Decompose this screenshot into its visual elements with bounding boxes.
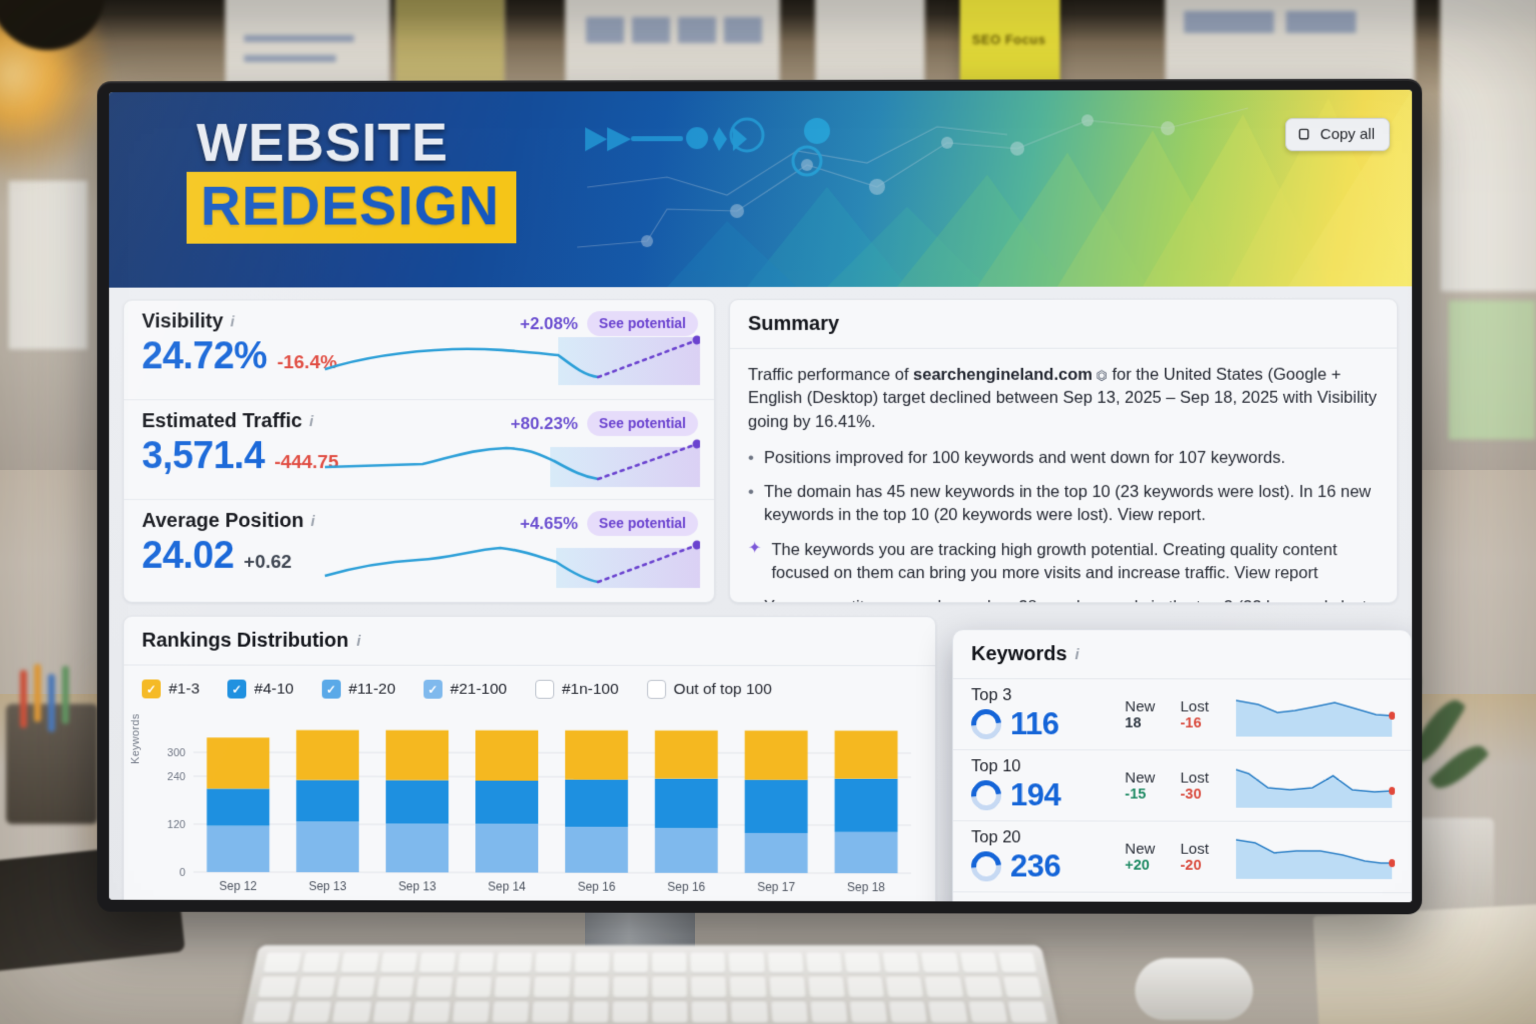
keyboard (241, 945, 1060, 1024)
legend-label: #21-100 (450, 680, 507, 698)
keyword-label: Top 20 (971, 828, 1111, 847)
keyword-row-top-10: Top 10 194 New -15 Lost -30 (953, 750, 1411, 822)
info-icon[interactable]: i (357, 634, 372, 649)
bar-segment (835, 779, 898, 832)
legend-label: Out of top 100 (674, 680, 772, 698)
svg-text:Sep 13: Sep 13 (309, 879, 347, 893)
hero-title-line-2: REDESIGN (187, 171, 516, 243)
keyboard-keys (252, 952, 1047, 1022)
bar-segment (655, 778, 718, 828)
checkbox-checked[interactable]: ✓ (227, 680, 246, 699)
metrics-card: Visibility i 24.72% -16.4% +2.08% See po… (123, 299, 715, 603)
wall-paper-6 (1440, 0, 1536, 292)
pencil-cup (6, 704, 98, 824)
summary-bullet: • The domain has 45 new keywords in the … (748, 481, 1379, 527)
bar-segment (296, 780, 359, 822)
bar-segment (475, 781, 538, 824)
keyword-lost-value: -16 (1180, 715, 1221, 731)
keyword-new: New -15 (1125, 769, 1166, 802)
copy-all-button[interactable]: Copy all (1285, 118, 1390, 151)
legend-item-1-3[interactable]: ✓ #1-3 (142, 679, 200, 698)
svg-text:Sep 17: Sep 17 (757, 880, 795, 894)
bar-segment (207, 738, 270, 789)
wall-paper-7 (8, 180, 88, 350)
legend-label: #4-10 (254, 680, 293, 698)
legend-item-21-100[interactable]: ✓ #21-100 (423, 680, 507, 699)
keyword-lost-label: Lost (1180, 840, 1221, 857)
bar-segment (386, 780, 449, 824)
summary-domain[interactable]: searchengineland.com (913, 366, 1092, 384)
svg-text:120: 120 (167, 819, 185, 831)
keyword-row-top-20: Top 20 236 New +20 Lost -20 (953, 821, 1411, 893)
summary-bullets: • Positions improved for 100 keywords an… (748, 447, 1379, 603)
keyword-value-line: 116 (971, 706, 1111, 742)
monitor: WEBSITE REDESIGN Copy all Visibility i (97, 79, 1422, 915)
donut-icon (965, 774, 1007, 816)
summary-bullet-text: The keywords you are tracking high growt… (771, 539, 1378, 585)
metric-delta: +0.62 (244, 552, 292, 574)
keyword-value-line: 194 (971, 777, 1111, 813)
bar-segment (565, 730, 628, 779)
bar-segment (745, 780, 808, 833)
keyword-value-line: 236 (971, 848, 1111, 884)
summary-intro-a: Traffic performance of (748, 366, 913, 384)
keyword-lost: Lost -16 (1180, 698, 1221, 731)
sparkle-icon: ✦ (748, 539, 761, 585)
improved-declined-title: Improved vs. declined (971, 901, 1393, 902)
summary-intro: Traffic performance of searchengineland.… (748, 364, 1379, 435)
svg-text:Sep 13: Sep 13 (398, 879, 436, 893)
metric-average-position: Average Position i 24.02 +0.62 +4.65% Se… (124, 500, 714, 600)
bar-segment (207, 826, 270, 872)
keyword-value: 236 (1010, 848, 1060, 884)
svg-text:Sep 16: Sep 16 (578, 880, 616, 894)
metric-value: 24.02 (142, 535, 234, 578)
hero-title-line-1: WEBSITE (197, 112, 449, 174)
stacked-bar-chart: 0120300240Sep 12Sep 13Sep 13Sep 14Sep 16… (140, 706, 919, 899)
svg-text:Sep 12: Sep 12 (219, 879, 257, 893)
keyword-new-label: New (1125, 769, 1166, 786)
legend-label: #11-20 (349, 680, 396, 698)
screen: WEBSITE REDESIGN Copy all Visibility i (109, 90, 1412, 902)
donut-icon (965, 703, 1007, 745)
summary-bullet: • Positions improved for 100 keywords an… (748, 447, 1379, 470)
legend-item-out-of-top-100[interactable]: Out of top 100 (647, 680, 772, 699)
keyword-new-label: New (1125, 840, 1166, 857)
bar-segment (745, 731, 808, 780)
copy-icon (1297, 127, 1312, 142)
summary-card: Summary Traffic performance of searcheng… (729, 298, 1398, 603)
bar-segment (207, 789, 270, 826)
info-icon[interactable]: i (230, 314, 245, 329)
bar-segment (565, 827, 628, 873)
keyword-row-top-3: Top 3 116 New 18 Lost -16 (953, 679, 1411, 751)
summary-bullet: ✦ The keywords you are tracking high gro… (748, 539, 1379, 585)
metric-sparkline (323, 431, 700, 493)
keyword-value: 194 (1010, 777, 1060, 813)
svg-text:Sep 16: Sep 16 (667, 880, 705, 894)
checkbox-checked[interactable]: ✓ (322, 680, 341, 699)
keyword-left: Top 20 236 (971, 828, 1111, 884)
summary-bullet: • Your competitor semrush.com has 28 new… (748, 596, 1379, 604)
chart-y-axis-label: Keywords (130, 714, 142, 765)
metric-value: 3,571.4 (142, 435, 265, 478)
legend-item-4-10[interactable]: ✓ #4-10 (227, 680, 293, 699)
donut-icon (965, 845, 1007, 887)
info-icon[interactable]: i (1075, 647, 1090, 662)
metric-label-text: Visibility (142, 310, 223, 333)
metric-visibility: Visibility i 24.72% -16.4% +2.08% See po… (124, 300, 714, 400)
keyword-lost-label: Lost (1180, 769, 1221, 786)
rankings-legend: ✓ #1-3 ✓ #4-10 ✓ #11-20 ✓ (124, 665, 935, 705)
keyword-sparkline (1236, 835, 1395, 879)
summary-bullet-text: The domain has 45 new keywords in the to… (764, 481, 1379, 527)
sticky-note-label: SEO Focus (972, 32, 1046, 47)
svg-text:Sep 18: Sep 18 (847, 880, 885, 894)
svg-text:300: 300 (167, 747, 185, 759)
rankings-title: Rankings Distribution (142, 630, 349, 653)
checkbox-checked[interactable]: ✓ (423, 680, 442, 699)
legend-item-1n-100[interactable]: #1n-100 (535, 680, 619, 699)
keyword-new-value: -15 (1125, 786, 1166, 802)
copy-all-label: Copy all (1320, 126, 1375, 143)
summary-bullet-text: Your competitor semrush.com has 28 new k… (764, 596, 1379, 604)
bar-segment (745, 833, 808, 873)
metric-potential-pct: +4.65% (520, 513, 578, 533)
keyword-left: Top 3 116 (971, 686, 1111, 742)
keyword-new-value: +20 (1125, 857, 1166, 873)
hero-banner: WEBSITE REDESIGN Copy all (109, 90, 1412, 288)
improved-vs-declined: Improved vs. declined 100 107 (953, 892, 1411, 902)
open-book (1313, 904, 1536, 1024)
info-icon[interactable]: i (311, 514, 326, 529)
bar-segment (655, 828, 718, 873)
info-icon[interactable]: i (309, 414, 324, 429)
keyword-new-value: 18 (1125, 715, 1166, 731)
legend-label: #1n-100 (562, 680, 619, 698)
keyword-label: Top 10 (971, 757, 1111, 776)
summary-title: Summary (730, 299, 1397, 349)
svg-text:0: 0 (179, 867, 185, 879)
metric-value: 24.72% (142, 335, 267, 378)
keyword-label: Top 3 (971, 686, 1111, 705)
bullet-dot-icon: • (748, 596, 754, 604)
keywords-card: Keywords i Top 3 116 New 18 Lost -1 (952, 629, 1412, 902)
metric-sparkline (323, 331, 700, 393)
keyword-sparkline (1236, 764, 1395, 808)
keyword-lost: Lost -20 (1180, 840, 1221, 873)
rankings-header: Rankings Distribution i (124, 617, 935, 667)
keyword-lost-value: -20 (1180, 857, 1221, 873)
rankings-distribution-card: Rankings Distribution i ✓ #1-3 ✓ #4-10 (123, 616, 936, 903)
bar-segment (296, 821, 359, 872)
keywords-title: Keywords (971, 643, 1067, 666)
bar-segment (655, 730, 718, 778)
keyword-new: New +20 (1125, 840, 1166, 873)
bar-segment (835, 731, 898, 779)
top-row: Visibility i 24.72% -16.4% +2.08% See po… (123, 298, 1398, 603)
bullet-dot-icon: • (748, 481, 754, 527)
bullet-dot-icon: • (748, 447, 754, 470)
rankings-chart: Keywords 0120300240Sep 12Sep 13Sep 13Sep… (124, 704, 935, 901)
bar-segment (835, 832, 898, 873)
metric-label-text: Estimated Traffic (142, 410, 302, 433)
keywords-header: Keywords i (953, 630, 1411, 679)
bar-segment (565, 780, 628, 827)
legend-item-11-20[interactable]: ✓ #11-20 (322, 680, 396, 699)
keyword-lost-value: -30 (1180, 786, 1221, 802)
bar-segment (475, 730, 538, 780)
wall-paper-8 (1448, 300, 1536, 440)
keyword-lost-label: Lost (1180, 698, 1221, 715)
keyword-sparkline (1236, 692, 1395, 736)
checkbox-checked[interactable]: ✓ (142, 679, 161, 698)
keyword-lost: Lost -30 (1180, 769, 1221, 802)
keyword-new-label: New (1125, 698, 1166, 715)
legend-label: #1-3 (169, 680, 200, 698)
bar-segment (386, 730, 449, 780)
checkbox-unchecked[interactable] (647, 680, 666, 699)
bar-segment (296, 730, 359, 780)
svg-text:240: 240 (167, 771, 185, 783)
keyword-left: Top 10 194 (971, 757, 1111, 813)
bar-segment (386, 824, 449, 873)
keyword-new: New 18 (1125, 698, 1166, 731)
metric-label-text: Average Position (142, 510, 304, 533)
keyword-value: 116 (1010, 706, 1059, 742)
external-link-icon[interactable]: ⏣ (1092, 368, 1107, 383)
summary-bullet-text: Positions improved for 100 keywords and … (764, 447, 1285, 470)
bar-segment (475, 824, 538, 873)
checkbox-unchecked[interactable] (535, 680, 554, 699)
metric-estimated-traffic: Estimated Traffic i 3,571.4 -444.75 +80.… (124, 400, 714, 500)
summary-body: Traffic performance of searchengineland.… (730, 349, 1397, 604)
svg-text:Sep 14: Sep 14 (488, 879, 526, 893)
metric-sparkline (323, 532, 700, 594)
mouse (1135, 958, 1253, 1020)
